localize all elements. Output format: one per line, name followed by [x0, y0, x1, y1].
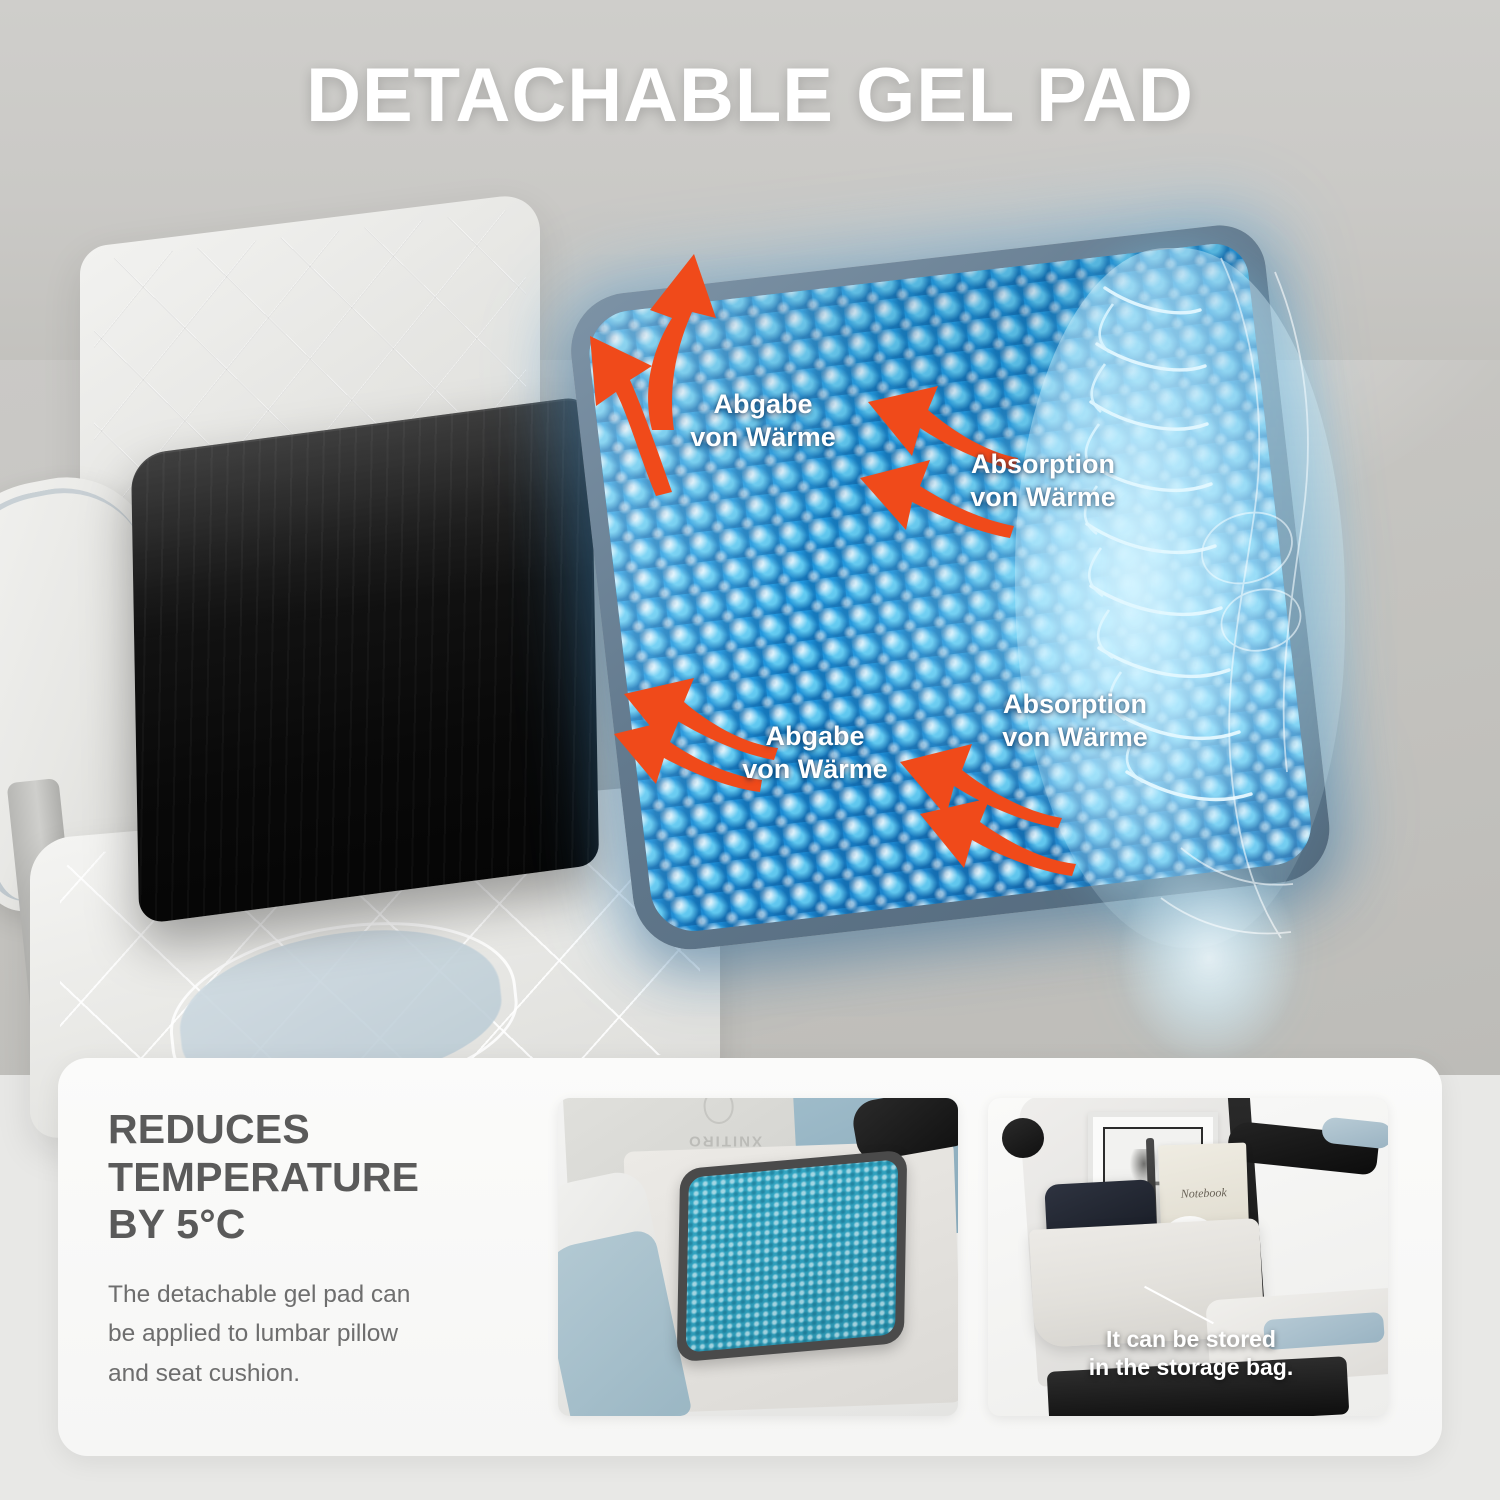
feature-heading: REDUCES TEMPERATURE BY 5°C [108, 1106, 538, 1249]
label-heat-release-top: Abgabe von Wärme [648, 388, 878, 454]
chair-knob [1002, 1118, 1044, 1158]
photo-gel-pad-on-seat: XNITIRO [558, 1098, 958, 1416]
label-heat-absorption-top: Absorption von Wärme [918, 448, 1168, 514]
page-title: DETACHABLE GEL PAD [0, 52, 1500, 139]
gel-pad-frame [565, 221, 1335, 956]
storage-caption: It can be stored in the storage bag. [1004, 1326, 1378, 1381]
label-heat-release-bottom: Abgabe von Wärme [700, 720, 930, 786]
teal-gel-pad [677, 1150, 908, 1363]
teal-gel-pad-face [686, 1159, 898, 1352]
black-lumbar-pillow [131, 395, 599, 924]
gel-pad-surface [585, 240, 1315, 935]
feature-card: REDUCES TEMPERATURE BY 5°C The detachabl… [58, 1058, 1442, 1456]
notebook-label: Notebook [1160, 1184, 1248, 1202]
label-heat-absorption-bottom: Absorption von Wärme [950, 688, 1200, 754]
brand-logo-text: XNITIRO [677, 1098, 773, 1150]
product-infographic: DETACHABLE GEL PAD Abgabe von Wärme Abso… [0, 0, 1500, 1500]
photo-storage-bag: Notebook It can be stored in the storage… [988, 1098, 1388, 1416]
teal-gel-pad-texture [686, 1159, 898, 1352]
gel-pad-sheen [585, 240, 1315, 935]
feature-description: The detachable gel pad can be applied to… [108, 1275, 538, 1394]
gel-pad-hero [565, 221, 1335, 956]
feature-text-block: REDUCES TEMPERATURE BY 5°C The detachabl… [108, 1106, 538, 1394]
